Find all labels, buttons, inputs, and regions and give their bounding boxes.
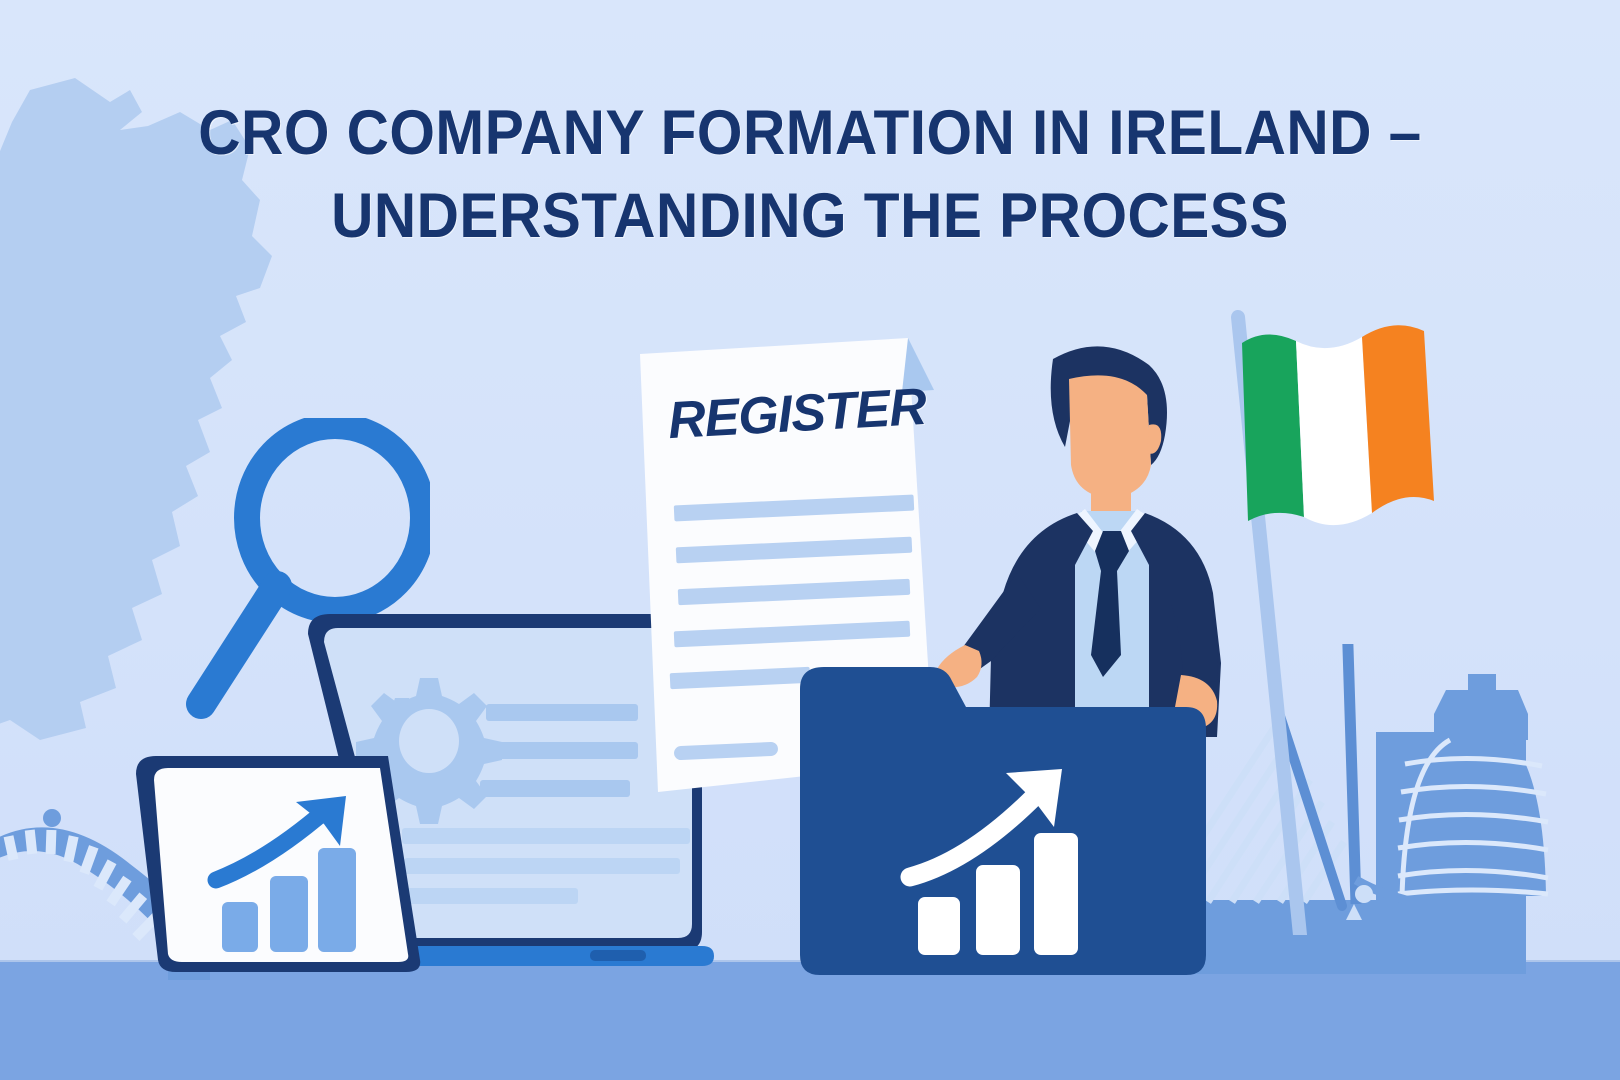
- flag-cloth: [1242, 325, 1434, 525]
- banner-image: REGISTER: [0, 0, 1620, 1080]
- page-title: CRO COMPANY FORMATION IN IRELAND – UNDER…: [57, 92, 1564, 258]
- laptop-icon: [118, 728, 448, 976]
- ireland-flag-icon: [1222, 295, 1467, 935]
- folder-icon: [800, 655, 1210, 975]
